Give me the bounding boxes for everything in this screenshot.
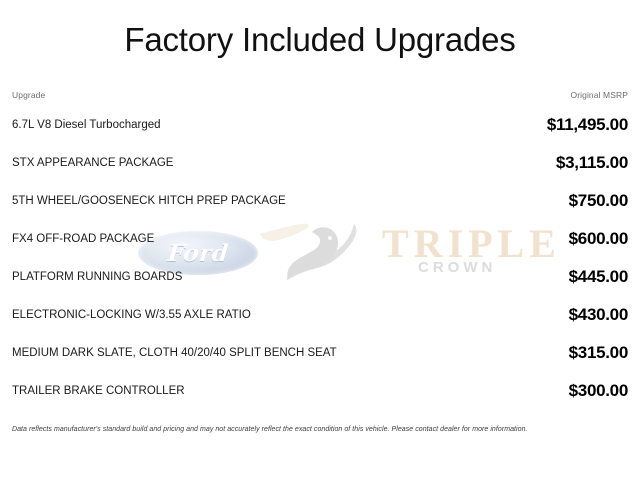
upgrade-name: MEDIUM DARK SLATE, CLOTH 40/20/40 SPLIT … bbox=[12, 334, 456, 372]
table-row: PLATFORM RUNNING BOARDS $445.00 bbox=[12, 258, 628, 296]
upgrade-price: $315.00 bbox=[456, 334, 628, 372]
table-row: 5TH WHEEL/GOOSENECK HITCH PREP PACKAGE $… bbox=[12, 182, 628, 220]
upgrade-price: $430.00 bbox=[456, 296, 628, 334]
table-header: Upgrade Original MSRP bbox=[12, 90, 628, 106]
table-row: ELECTRONIC-LOCKING W/3.55 AXLE RATIO $43… bbox=[12, 296, 628, 334]
content-area: Factory Included Upgrades Upgrade Origin… bbox=[0, 0, 640, 435]
upgrade-price: $445.00 bbox=[456, 258, 628, 296]
table-body: 6.7L V8 Diesel Turbocharged $11,495.00 S… bbox=[12, 106, 628, 410]
upgrade-name: FX4 OFF-ROAD PACKAGE bbox=[12, 220, 456, 258]
page-title: Factory Included Upgrades bbox=[12, 0, 628, 58]
column-header-upgrade: Upgrade bbox=[12, 90, 456, 106]
disclaimer-text: Data reflects manufacturer's standard bu… bbox=[12, 426, 628, 434]
upgrade-name: 6.7L V8 Diesel Turbocharged bbox=[12, 106, 456, 144]
upgrade-name: STX APPEARANCE PACKAGE bbox=[12, 144, 456, 182]
upgrade-price: $300.00 bbox=[456, 372, 628, 410]
table-row: FX4 OFF-ROAD PACKAGE $600.00 bbox=[12, 220, 628, 258]
table-row: 6.7L V8 Diesel Turbocharged $11,495.00 bbox=[12, 106, 628, 144]
upgrade-price: $11,495.00 bbox=[456, 106, 628, 144]
upgrade-name: TRAILER BRAKE CONTROLLER bbox=[12, 372, 456, 410]
table-row: MEDIUM DARK SLATE, CLOTH 40/20/40 SPLIT … bbox=[12, 334, 628, 372]
upgrade-price: $3,115.00 bbox=[456, 144, 628, 182]
table-header-row: Upgrade Original MSRP bbox=[12, 90, 628, 106]
table-row: STX APPEARANCE PACKAGE $3,115.00 bbox=[12, 144, 628, 182]
upgrade-price: $600.00 bbox=[456, 220, 628, 258]
column-header-msrp: Original MSRP bbox=[456, 90, 628, 106]
upgrade-name: 5TH WHEEL/GOOSENECK HITCH PREP PACKAGE bbox=[12, 182, 456, 220]
upgrades-page: Ford TRIPLE CROWN Factory Included Upgra… bbox=[0, 0, 640, 480]
table-row: TRAILER BRAKE CONTROLLER $300.00 bbox=[12, 372, 628, 410]
upgrade-name: ELECTRONIC-LOCKING W/3.55 AXLE RATIO bbox=[12, 296, 456, 334]
upgrade-name: PLATFORM RUNNING BOARDS bbox=[12, 258, 456, 296]
upgrade-price: $750.00 bbox=[456, 182, 628, 220]
factory-upgrades-table: Upgrade Original MSRP 6.7L V8 Diesel Tur… bbox=[12, 90, 628, 410]
